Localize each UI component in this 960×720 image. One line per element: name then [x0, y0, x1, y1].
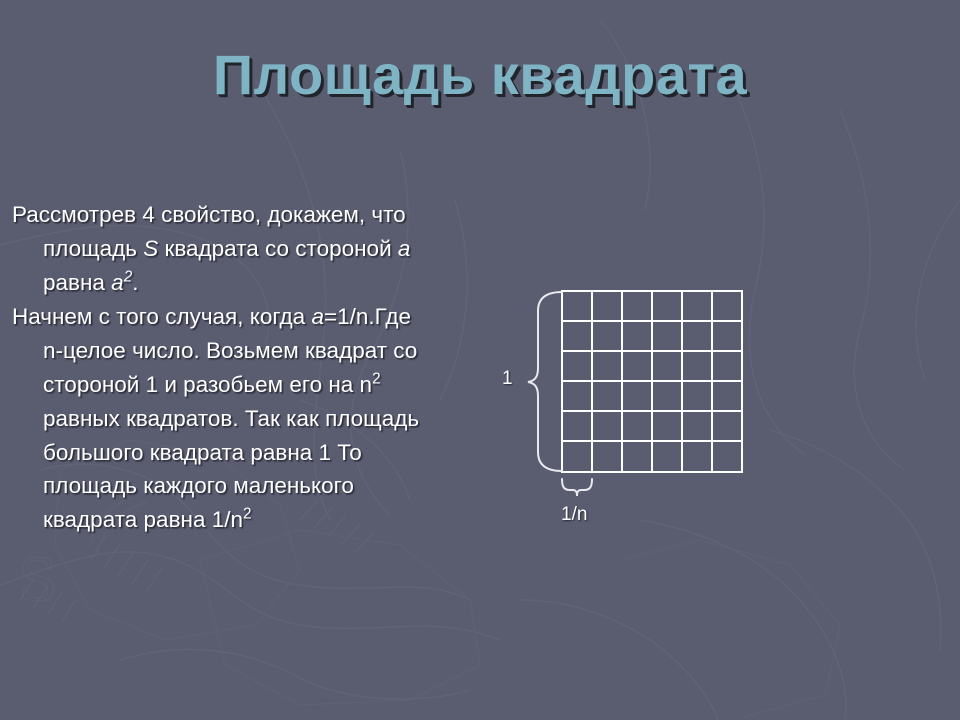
paragraph-2-run-4-superscript: 2 — [372, 370, 381, 387]
unit-square-figure: 1 1/n — [490, 270, 790, 540]
paragraph-2: Начнем с того случая, когда a=1/n.Где n-… — [12, 300, 432, 537]
paragraph-1-run-5: равна — [43, 270, 111, 295]
paragraph-1: Рассмотрев 4 свойство, докажем, что площ… — [12, 198, 432, 299]
horizontal-brace — [562, 479, 592, 496]
svg-text:S: S — [18, 546, 58, 614]
page-title: Площадь квадрата — [213, 46, 747, 105]
paragraph-2-run-5: равных квадратов. Так как площадь большо… — [43, 406, 419, 532]
paragraph-2-run-2-italic: a — [311, 304, 324, 329]
paragraph-2-run-6-superscript: 2 — [243, 506, 252, 523]
paragraph-1-run-4-italic: a — [398, 236, 411, 261]
paragraph-1-run-2-italic: S — [143, 236, 158, 261]
title-bar: Площадь квадрата — [0, 46, 960, 105]
grid-lines — [562, 291, 742, 472]
paragraph-1-run-7-superscript: 2 — [124, 268, 133, 285]
vertical-brace — [528, 292, 562, 471]
paragraph-2-run-1: Начнем с того случая, когда — [12, 304, 311, 329]
paragraph-1-run-8: . — [132, 270, 138, 295]
paragraph-1-run-3: квадрата со стороной — [158, 236, 398, 261]
body-text-column: Рассмотрев 4 свойство, докажем, что площ… — [12, 198, 432, 537]
slide: S Площадь квадрата Рассмотрев 4 свойство… — [0, 0, 960, 720]
brace-label-cell: 1/n — [561, 504, 587, 526]
brace-label-side: 1 — [502, 368, 513, 390]
paragraph-1-run-6-italic: a — [111, 270, 124, 295]
